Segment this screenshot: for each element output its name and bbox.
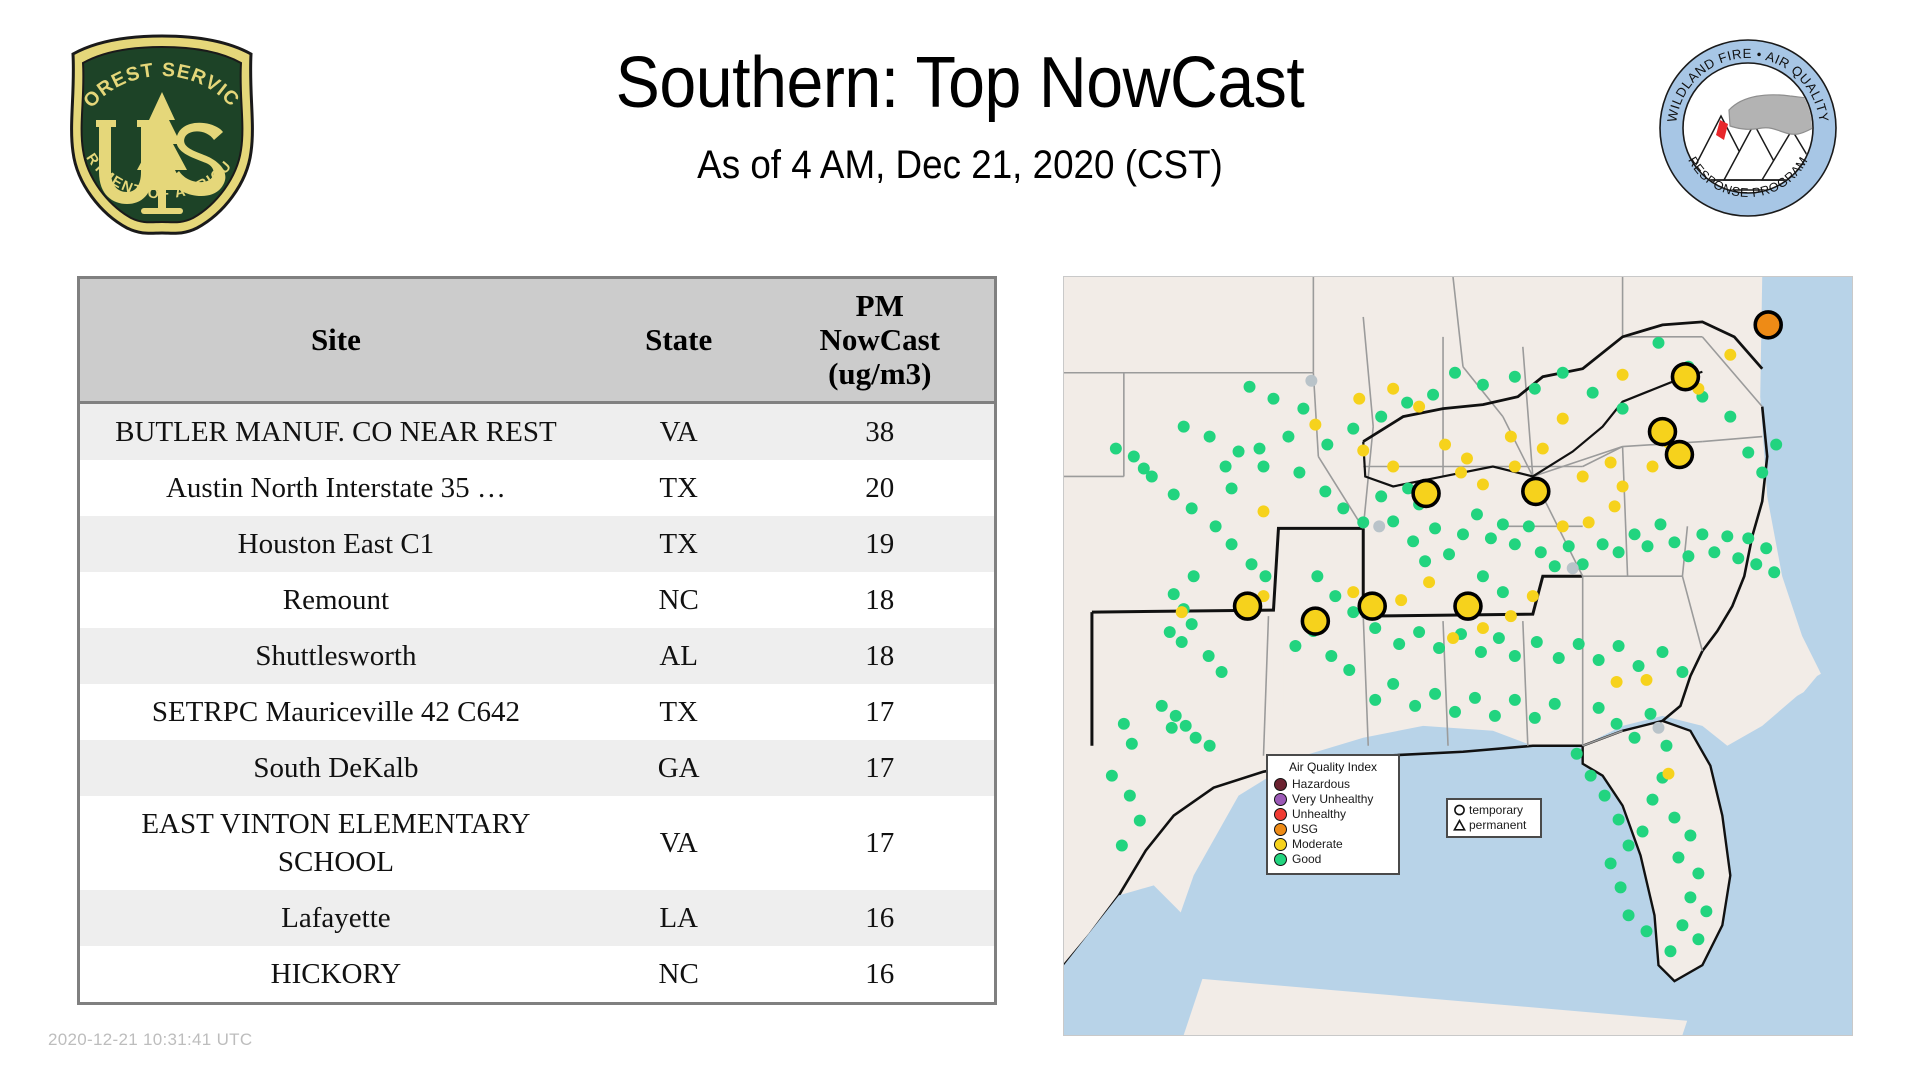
table-row: RemountNC18 — [80, 572, 994, 628]
table-row: LafayetteLA16 — [80, 890, 994, 946]
table-body: BUTLER MANUF. CO NEAR RESTVA38Austin Nor… — [80, 403, 994, 1003]
cell-site: South DeKalb — [80, 740, 592, 796]
legend-row-permanent: permanent — [1453, 818, 1535, 833]
top-site-marker — [1359, 593, 1385, 619]
top-site-marker-usg — [1755, 312, 1781, 338]
cell-state: VA — [592, 796, 766, 890]
aqi-legend-swatch — [1274, 823, 1287, 836]
aqi-legend-swatch — [1274, 808, 1287, 821]
cell-state: LA — [592, 890, 766, 946]
top-site-marker — [1666, 442, 1692, 468]
cell-state: NC — [592, 572, 766, 628]
page-title: Southern: Top NowCast — [353, 45, 1567, 121]
table-row: Houston East C1TX19 — [80, 516, 994, 572]
title-block: Southern: Top NowCast As of 4 AM, Dec 21… — [300, 45, 1620, 187]
wfaqrp-logo: WILDLAND FIRE • AIR QUALITY RESPONSE PRO… — [1658, 38, 1838, 218]
pm-header-line3: (ug/m3) — [769, 357, 990, 391]
aqi-monitor-map[interactable]: Air Quality Index HazardousVery Unhealth… — [1063, 276, 1853, 1036]
cell-pm-nowcast: 18 — [765, 572, 994, 628]
cell-state: NC — [592, 946, 766, 1002]
cell-pm-nowcast: 17 — [765, 684, 994, 740]
legend-row-temporary: temporary — [1453, 803, 1535, 818]
cell-site: HICKORY — [80, 946, 592, 1002]
cell-pm-nowcast: 20 — [765, 460, 994, 516]
cell-state: TX — [592, 460, 766, 516]
top-site-marker — [1235, 593, 1261, 619]
aqi-legend-title: Air Quality Index — [1274, 760, 1392, 774]
nowcast-table: Site State PM NowCast (ug/m3) BUTLER MAN… — [80, 279, 994, 1002]
aqi-legend-swatch — [1274, 853, 1287, 866]
table-row: EAST VINTON ELEMENTARY SCHOOLVA17 — [80, 796, 994, 890]
aqi-legend-row: USG — [1274, 822, 1392, 837]
top-site-marker — [1455, 593, 1481, 619]
aqi-legend-swatch — [1274, 838, 1287, 851]
site-type-legend: temporary permanent — [1446, 798, 1542, 838]
nowcast-table-container: Site State PM NowCast (ug/m3) BUTLER MAN… — [77, 276, 997, 1005]
aqi-legend-label: Very Unhealthy — [1292, 793, 1373, 806]
cell-state: AL — [592, 628, 766, 684]
generation-timestamp: 2020-12-21 10:31:41 UTC — [48, 1030, 252, 1050]
cell-state: TX — [592, 684, 766, 740]
top-site-marker — [1523, 478, 1549, 504]
top-site-marker — [1650, 419, 1676, 445]
table-row: Austin North Interstate 35 …TX20 — [80, 460, 994, 516]
aqi-legend-rows: HazardousVery UnhealthyUnhealthyUSGModer… — [1274, 777, 1392, 867]
table-row: BUTLER MANUF. CO NEAR RESTVA38 — [80, 403, 994, 461]
aqi-legend-label: Good — [1292, 853, 1321, 866]
top-site-marker — [1413, 480, 1439, 506]
cell-site: Shuttlesworth — [80, 628, 592, 684]
cell-site: Lafayette — [80, 890, 592, 946]
cell-site: Houston East C1 — [80, 516, 592, 572]
cell-pm-nowcast: 16 — [765, 890, 994, 946]
table-row: HICKORYNC16 — [80, 946, 994, 1002]
cell-pm-nowcast: 17 — [765, 740, 994, 796]
aqi-legend-row: Good — [1274, 852, 1392, 867]
top-site-marker — [1302, 608, 1328, 634]
page-header: FOREST SERVICE DEPARTMENT OF AGRICULTURE… — [0, 0, 1920, 265]
table-row: South DeKalbGA17 — [80, 740, 994, 796]
us-forest-service-logo: FOREST SERVICE DEPARTMENT OF AGRICULTURE — [55, 32, 270, 237]
cell-pm-nowcast: 19 — [765, 516, 994, 572]
aqi-legend-label: Hazardous — [1292, 778, 1350, 791]
cell-state: VA — [592, 403, 766, 461]
cell-state: GA — [592, 740, 766, 796]
cell-site: Austin North Interstate 35 … — [80, 460, 592, 516]
table-header-row: Site State PM NowCast (ug/m3) — [80, 279, 994, 403]
aqi-legend-row: Hazardous — [1274, 777, 1392, 792]
column-header-pm-nowcast: PM NowCast (ug/m3) — [765, 279, 994, 403]
aqi-legend-row: Moderate — [1274, 837, 1392, 852]
cell-pm-nowcast: 17 — [765, 796, 994, 890]
page-subtitle: As of 4 AM, Dec 21, 2020 (CST) — [353, 143, 1567, 187]
cell-pm-nowcast: 18 — [765, 628, 994, 684]
aqi-legend-label: Moderate — [1292, 838, 1343, 851]
table-row: SETRPC Mauriceville 42 C642TX17 — [80, 684, 994, 740]
table-row: ShuttlesworthAL18 — [80, 628, 994, 684]
column-header-state: State — [592, 279, 766, 403]
legend-label-temporary: temporary — [1469, 804, 1523, 817]
cell-state: TX — [592, 516, 766, 572]
aqi-legend-row: Very Unhealthy — [1274, 792, 1392, 807]
cell-site: Remount — [80, 572, 592, 628]
aqi-legend-swatch — [1274, 793, 1287, 806]
pm-header-line2: NowCast — [769, 323, 990, 357]
top-site-marker — [1672, 364, 1698, 390]
aqi-legend: Air Quality Index HazardousVery Unhealth… — [1266, 754, 1400, 875]
cell-pm-nowcast: 16 — [765, 946, 994, 1002]
cell-site: SETRPC Mauriceville 42 C642 — [80, 684, 592, 740]
aqi-legend-label: Unhealthy — [1292, 808, 1346, 821]
column-header-site: Site — [80, 279, 592, 403]
aqi-legend-swatch — [1274, 778, 1287, 791]
cell-pm-nowcast: 38 — [765, 403, 994, 461]
pm-header-line1: PM — [769, 289, 990, 323]
triangle-outline-icon — [1453, 819, 1466, 832]
legend-label-permanent: permanent — [1469, 819, 1526, 832]
cell-site: BUTLER MANUF. CO NEAR REST — [80, 403, 592, 461]
circle-outline-icon — [1453, 804, 1466, 817]
aqi-legend-label: USG — [1292, 823, 1318, 836]
aqi-legend-row: Unhealthy — [1274, 807, 1392, 822]
map-canvas — [1064, 277, 1852, 1035]
cell-site: EAST VINTON ELEMENTARY SCHOOL — [80, 796, 592, 890]
